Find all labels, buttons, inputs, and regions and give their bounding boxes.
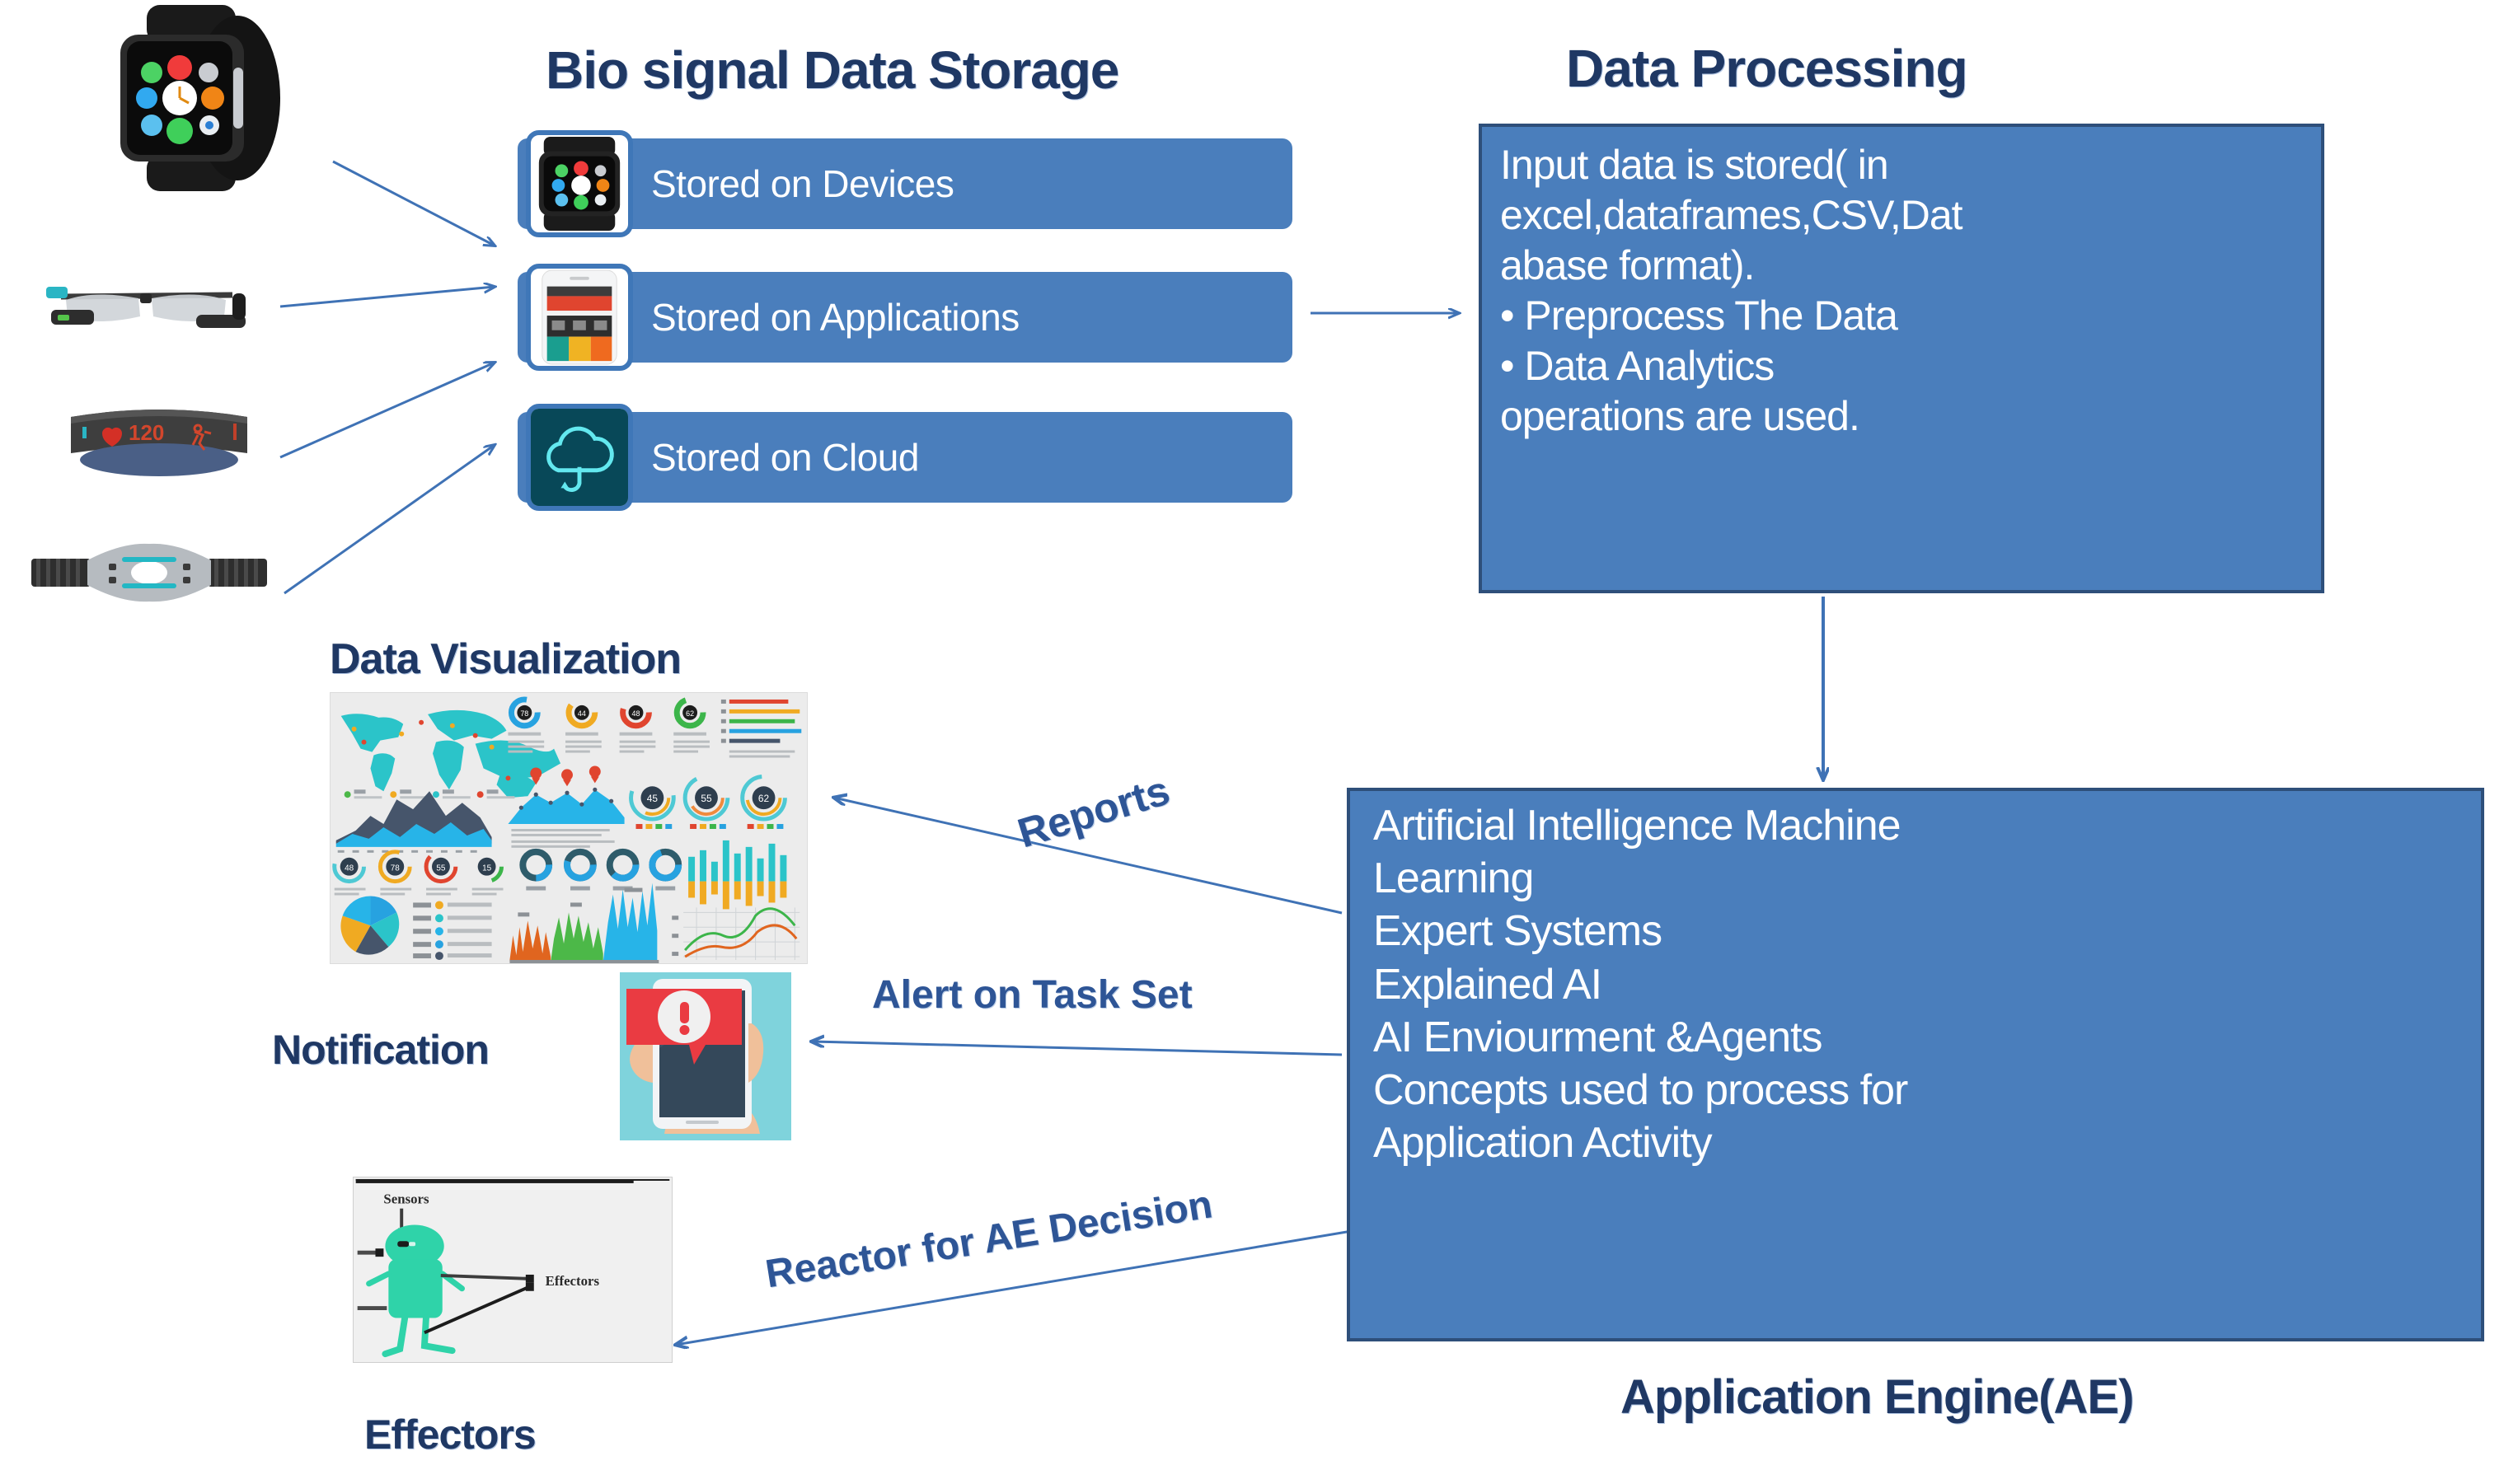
page-title-effectors: Effectors	[364, 1411, 536, 1458]
processing-line: abase format).	[1500, 241, 2303, 291]
donut-value: 48	[632, 709, 640, 718]
storage-item-applications[interactable]: Stored on Applications	[518, 272, 1292, 363]
donut-value: 55	[436, 864, 446, 873]
donut-value: 78	[391, 864, 401, 873]
smartphone-app-icon	[526, 264, 633, 371]
chest-strap-device-image	[30, 536, 269, 610]
engine-line: Artificial Intelligence Machine	[1373, 799, 2458, 852]
engine-line: Concepts used to process for	[1373, 1064, 2458, 1117]
band-heart-rate-value: 120	[129, 420, 164, 445]
smartwatch-device-image	[99, 3, 288, 193]
smartwatch-icon	[526, 130, 633, 237]
agent-sensors-label: Sensors	[383, 1191, 429, 1207]
processing-bullet: • Preprocess The Data	[1500, 291, 2303, 341]
agent-effectors-label: Effectors	[546, 1273, 600, 1289]
data-visualization-infographic: 78 44 48 62	[330, 692, 808, 964]
donut-value: 62	[686, 709, 694, 718]
storage-item-label: Stored on Applications	[633, 295, 1020, 339]
cloud-icon	[526, 404, 633, 511]
storage-item-cloud[interactable]: Stored on Cloud	[518, 412, 1292, 503]
arrow-label-reactor: Reactor for AE Decision	[762, 1182, 1216, 1297]
page-title-application-engine: Application Engine(AE)	[1620, 1369, 2133, 1425]
donut-value: 55	[701, 793, 712, 804]
engine-line: Application Activity	[1373, 1117, 2458, 1169]
donut-value: 62	[758, 793, 770, 804]
engine-line: Explained AI	[1373, 958, 2458, 1011]
processing-line: excel,dataframes,CSV,Dat	[1500, 190, 2303, 241]
storage-item-label: Stored on Cloud	[633, 435, 919, 480]
donut-value: 44	[578, 709, 586, 718]
processing-bullet: • Data Analytics	[1500, 341, 2303, 391]
donut-value: 48	[345, 864, 354, 873]
diagram-canvas: Bio signal Data Storage Data Processing …	[0, 0, 2504, 1484]
notification-alert-image	[620, 972, 791, 1140]
page-title-storage: Bio signal Data Storage	[546, 40, 1118, 101]
arrow-label-reports: Reports	[1012, 766, 1175, 858]
engine-line: AI Enviourment &Agents	[1373, 1011, 2458, 1064]
donut-value: 45	[647, 793, 659, 804]
donut-value: 78	[520, 709, 528, 718]
data-processing-box: Input data is stored( in excel,dataframe…	[1479, 124, 2324, 593]
donut-value: 15	[482, 864, 492, 873]
engine-line: Expert Systems	[1373, 905, 2458, 957]
page-title-notification: Notification	[272, 1026, 489, 1074]
arrow-label-alert: Alert on Task Set	[872, 972, 1193, 1018]
storage-item-label: Stored on Devices	[633, 162, 954, 206]
processing-line: Input data is stored( in	[1500, 140, 2303, 190]
engine-line: Learning	[1373, 852, 2458, 905]
agent-effectors-image: Sensors Effectors	[353, 1177, 673, 1363]
storage-item-devices[interactable]: Stored on Devices	[518, 138, 1292, 229]
application-engine-box: Artificial Intelligence Machine Learning…	[1347, 788, 2484, 1341]
page-title-visualization: Data Visualization	[330, 634, 681, 684]
processing-line: operations are used.	[1500, 391, 2303, 442]
page-title-processing: Data Processing	[1566, 38, 1967, 99]
smart-glasses-device-image	[43, 272, 249, 348]
fitness-band-device-image: 120	[64, 402, 254, 485]
